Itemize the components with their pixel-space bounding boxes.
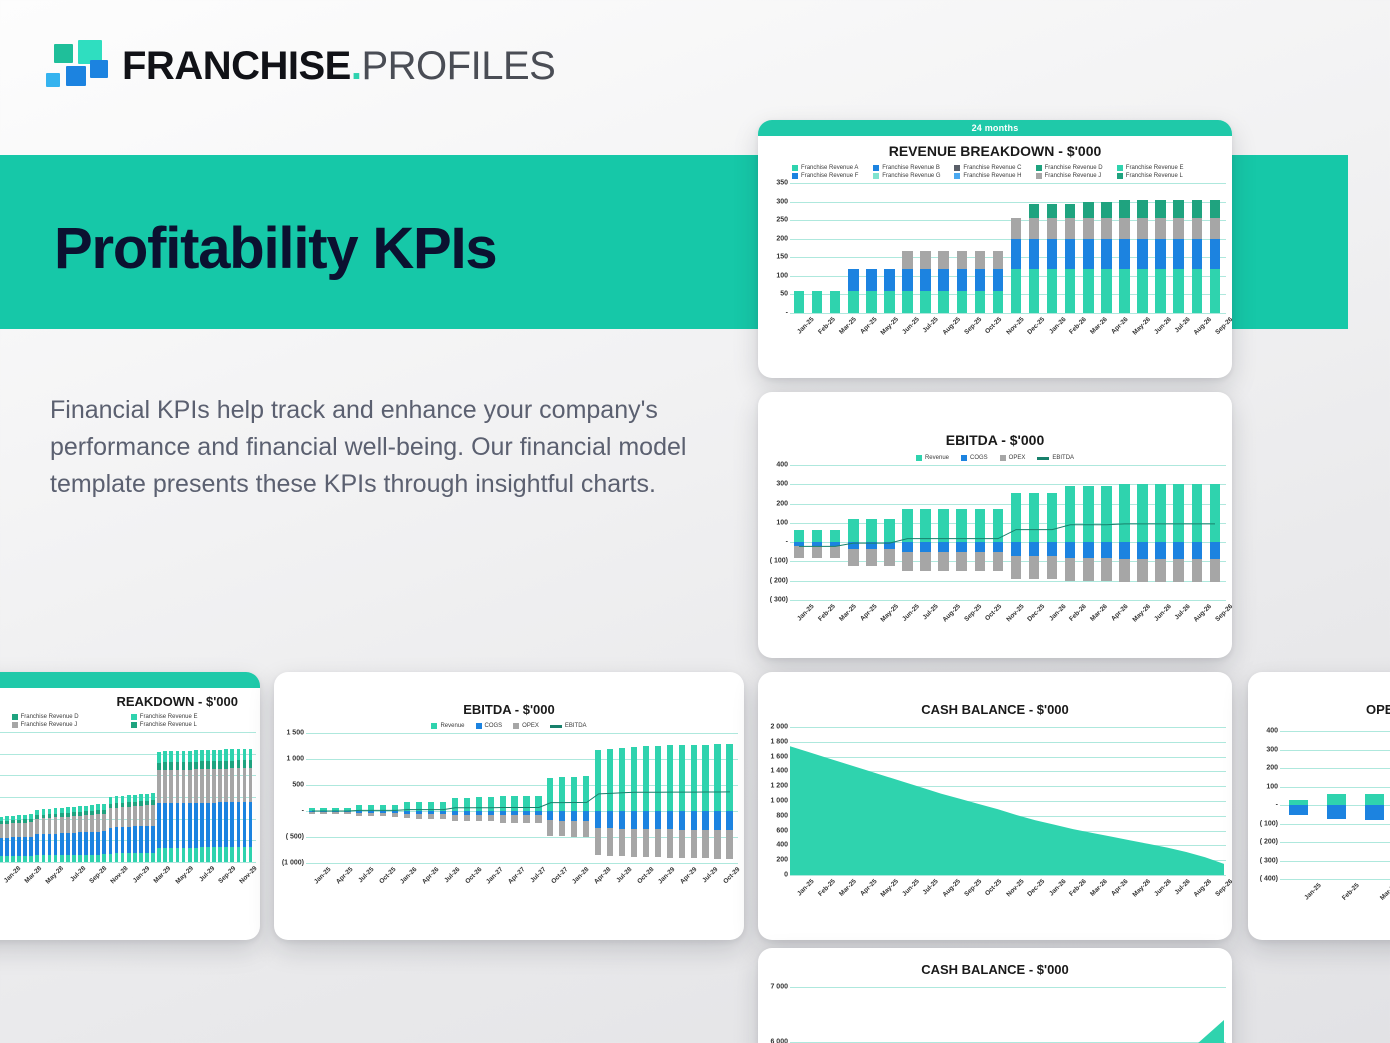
bar-segment <box>884 269 894 291</box>
bar-segment <box>920 269 930 291</box>
bar-segment <box>212 750 216 761</box>
bar-segment <box>188 762 192 770</box>
chart-plot-area: 35030025020015010050-Jan-25Feb-25Mar-25A… <box>764 183 1226 313</box>
bar <box>200 750 204 862</box>
bar <box>243 749 247 862</box>
legend-label: EBITDA <box>1052 455 1074 461</box>
bar-segment <box>1119 239 1129 269</box>
bar <box>212 750 216 862</box>
bar-column <box>1061 183 1079 313</box>
bar-column <box>248 732 254 862</box>
bar-segment <box>11 823 15 837</box>
bar-segment <box>157 848 161 862</box>
x-axis-tick: Feb-26 <box>1068 316 1088 336</box>
x-axis-tick: Jul-26 <box>1173 603 1191 621</box>
bar-segment <box>212 847 216 862</box>
x-axis-tick: Feb-25 <box>817 316 837 336</box>
y-axis: 1 5001 000500-( 500)(1 000) <box>280 733 306 863</box>
bar-segment <box>884 291 894 313</box>
bar-column <box>826 183 844 313</box>
bar-segment <box>230 761 234 769</box>
bar-segment <box>1173 200 1183 218</box>
bar <box>902 251 912 313</box>
bar-segment <box>0 824 3 838</box>
legend-label: COGS <box>485 723 503 729</box>
bar-segment <box>1101 218 1111 238</box>
y-axis-tick: 7 000 <box>770 984 788 991</box>
logo-square-3 <box>46 73 60 87</box>
brand-name-light: PROFILES <box>361 44 555 88</box>
x-axis-tick: May-29 <box>174 865 195 886</box>
bar-segment <box>17 823 21 837</box>
bar-segment <box>96 832 100 855</box>
card-revenue-breakdown-24m[interactable]: 24 months REVENUE BREAKDOWN - $'000 Fran… <box>758 120 1232 378</box>
bar-segment <box>243 749 247 760</box>
bar <box>1047 204 1057 313</box>
bar-segment <box>249 768 253 802</box>
bar-segment <box>133 826 137 853</box>
y-axis-tick: 1 400 <box>770 768 788 775</box>
bar-segment <box>1155 269 1165 313</box>
bar-segment <box>938 291 948 313</box>
legend-item: Revenue <box>431 723 464 729</box>
bar-segment <box>54 855 58 862</box>
chart-plot-area: 7 0006 0005 000 <box>764 987 1226 1043</box>
y-axis: 400300200100-( 100)( 200)( 300)( 400) <box>1254 731 1280 879</box>
card-revenue-breakdown-5y[interactable]: 5 years REAKDOWN - $'000 Franchise Reven… <box>0 672 260 940</box>
bar-segment <box>993 269 1003 291</box>
x-axis-tick: May-28 <box>45 865 66 886</box>
bar <box>230 749 234 862</box>
bar-column <box>1170 183 1188 313</box>
x-axis-tick: Jun-26 <box>1153 878 1173 898</box>
y-axis-tick: 300 <box>776 198 788 205</box>
bar-segment <box>224 761 228 769</box>
bar-segment <box>169 770 173 803</box>
y-axis-tick: 150 <box>776 254 788 261</box>
legend-label: Franchise Revenue L <box>1126 173 1183 179</box>
bar <box>188 751 192 862</box>
y-axis-tick: 400 <box>776 462 788 469</box>
bar-segment <box>115 853 119 862</box>
legend-item: Franchise Revenue B <box>873 165 954 171</box>
bar <box>1065 204 1075 313</box>
bar-segment <box>1047 239 1057 269</box>
bar-series <box>1280 731 1390 879</box>
legend-swatch-icon <box>476 723 482 729</box>
bar <box>17 815 21 862</box>
bar-column <box>880 183 898 313</box>
bar-segment <box>1065 269 1075 313</box>
bar-segment <box>182 803 186 847</box>
x-axis-tick: Jul-27 <box>527 866 547 886</box>
bar <box>163 751 167 862</box>
bar-segment <box>23 837 27 856</box>
x-axis-tick: Oct-25 <box>984 316 1003 335</box>
bar-segment <box>1083 202 1093 219</box>
x-axis: Jan-25Feb-25Mar-25Apr-25May-25Jun-25Jul-… <box>790 878 1224 885</box>
x-axis-tick: Mar-25 <box>838 316 858 336</box>
bar-segment <box>1065 204 1075 218</box>
bar <box>29 814 33 862</box>
bar <box>23 815 27 862</box>
bar-segment <box>1210 200 1220 218</box>
legend-item: Franchise Revenue C <box>954 165 1035 171</box>
bar-segment <box>1137 269 1147 313</box>
bar-segment <box>23 823 27 837</box>
bar-column <box>1152 183 1170 313</box>
x-axis-tick: Oct-29 <box>721 866 741 886</box>
bar-segment <box>72 855 76 862</box>
legend-item: EBITDA <box>550 723 587 729</box>
legend-label: Franchise Revenue C <box>963 165 1021 171</box>
card-cash-balance-5y[interactable]: CASH BALANCE - $'000 7 0006 0005 000 <box>758 948 1232 1043</box>
bar <box>1192 200 1202 313</box>
y-axis: 400300200100-( 100)( 200)( 300) <box>764 465 790 600</box>
chart-legend: RevenueCOGSOPEXEBITDA <box>758 455 1232 461</box>
bar-segment <box>182 751 186 762</box>
area-series <box>790 727 1224 875</box>
legend-item: Franchise Revenue A <box>792 165 873 171</box>
y-axis-tick: 200 <box>776 857 788 864</box>
bar-segment <box>139 794 143 801</box>
bar-segment <box>902 269 912 291</box>
x-axis-tick: Jul-28 <box>67 865 87 885</box>
legend-swatch-icon <box>1000 455 1006 461</box>
chart-title: REAKDOWN - $'000 <box>0 694 260 709</box>
y-axis-tick: 1 600 <box>770 753 788 760</box>
x-axis-tick: Jul-29 <box>699 866 719 886</box>
ebitda-line <box>306 733 736 863</box>
bar <box>794 291 804 313</box>
legend-swatch-icon <box>131 714 137 720</box>
legend-label: Franchise Revenue D <box>1045 165 1103 171</box>
bar-segment <box>218 761 222 769</box>
x-axis-tick: Apr-28 <box>592 866 612 886</box>
y-axis-tick: - <box>302 808 304 815</box>
bar-segment <box>176 762 180 770</box>
bar-segment <box>5 824 9 838</box>
y-axis-tick: 1 800 <box>770 738 788 745</box>
y-axis-tick: 300 <box>776 481 788 488</box>
x-axis-tick: Feb-26 <box>1068 878 1088 898</box>
y-axis-tick: 1 000 <box>770 798 788 805</box>
bar-column <box>1133 183 1151 313</box>
bar-segment <box>90 855 94 862</box>
legend-label: Revenue <box>925 455 949 461</box>
bar <box>182 751 186 862</box>
legend-label: OPEX <box>522 723 539 729</box>
bar-segment <box>72 833 76 855</box>
bar-segment <box>35 819 39 835</box>
y-axis-tick: 100 <box>776 272 788 279</box>
bar-segment <box>1137 218 1147 238</box>
bar <box>72 807 76 862</box>
bar-segment <box>35 834 39 855</box>
bar-segment <box>243 802 247 847</box>
chart-title: REVENUE BREAKDOWN - $'000 <box>758 143 1232 159</box>
bar-segment <box>1065 218 1075 238</box>
x-axis-tick: Jan-25 <box>312 866 332 886</box>
bar-segment <box>200 769 204 803</box>
bar <box>866 269 876 313</box>
bar-column <box>1318 731 1356 879</box>
bar-segment <box>163 803 167 847</box>
legend-item: Franchise Revenue D <box>1036 165 1117 171</box>
bar-segment <box>957 251 967 270</box>
bar-segment <box>78 832 82 854</box>
bar-segment <box>1137 239 1147 269</box>
ribbon-24-months: 24 months <box>758 120 1232 136</box>
bar <box>145 794 149 862</box>
x-axis-tick: May-25 <box>880 316 901 337</box>
bar-segment <box>182 762 186 770</box>
legend-swatch-icon <box>792 173 798 179</box>
bar-segment <box>5 856 9 862</box>
bar <box>48 809 52 862</box>
bar-column <box>1280 731 1318 879</box>
bar-segment <box>176 848 180 862</box>
y-axis-tick: 1 200 <box>770 783 788 790</box>
x-axis-tick: Jan-26 <box>1048 603 1068 623</box>
bar-segment <box>249 802 253 847</box>
bar <box>60 808 64 862</box>
bar-segment <box>48 818 52 834</box>
bar-column <box>1206 183 1224 313</box>
card-ebitda-24m[interactable]: EBITDA - $'000 RevenueCOGSOPEXEBITDA 400… <box>758 392 1232 658</box>
bar-segment <box>182 848 186 862</box>
bar-segment <box>206 750 210 761</box>
bar-segment <box>993 291 1003 313</box>
bar <box>102 804 106 862</box>
card-opex-partial[interactable]: OPE 400300200100-( 100)( 200)( 300)( 400… <box>1248 672 1390 940</box>
bar-segment <box>1119 269 1129 313</box>
bar-segment <box>1029 204 1039 218</box>
bar-series <box>0 732 254 862</box>
bar-segment <box>29 856 33 862</box>
legend-label: Franchise Revenue A <box>801 165 858 171</box>
bar-segment <box>102 831 106 854</box>
bar-segment <box>1011 269 1021 313</box>
bar-segment <box>96 814 100 831</box>
y-axis-tick: 500 <box>292 782 304 789</box>
bar-segment <box>975 291 985 313</box>
legend-item: Franchise Revenue H <box>954 173 1035 179</box>
bar-segment <box>163 848 167 862</box>
x-axis-tick: Apr-27 <box>506 866 526 886</box>
bar-segment <box>1011 218 1021 238</box>
legend-swatch-icon <box>131 722 137 728</box>
x-axis-tick: Feb-25 <box>817 603 837 623</box>
legend-item: Franchise Revenue J <box>1036 173 1117 179</box>
x-axis-tick: Apr-25 <box>334 866 354 886</box>
y-axis-tick: ( 100) <box>1260 820 1278 827</box>
x-axis-tick: Sep-26 <box>1215 316 1232 336</box>
legend-swatch-icon <box>961 455 967 461</box>
y-axis-tick: 300 <box>1266 746 1278 753</box>
bar-segment <box>157 803 161 847</box>
x-axis-tick: Oct-26 <box>463 866 483 886</box>
bar-segment <box>151 805 155 826</box>
bar-segment <box>920 291 930 313</box>
bar-segment <box>1065 239 1075 269</box>
bar-segment <box>169 848 173 862</box>
x-axis-tick: Jul-25 <box>922 878 940 896</box>
bar-segment <box>243 768 247 802</box>
y-axis-tick: ( 500) <box>286 834 304 841</box>
bar <box>848 269 858 313</box>
bar-segment <box>200 803 204 848</box>
bar-column <box>971 183 989 313</box>
bar-segment <box>84 855 88 862</box>
bar-segment <box>1083 269 1093 313</box>
bar-segment <box>169 762 173 770</box>
bar-column <box>898 183 916 313</box>
legend-item: Franchise Revenue D <box>12 714 131 720</box>
bar-segment <box>42 855 46 862</box>
bar-segment <box>237 768 241 802</box>
x-axis-tick: Dec-25 <box>1026 603 1046 623</box>
bar-column <box>917 183 935 313</box>
x-axis-tick: Apr-26 <box>1110 878 1130 898</box>
x-axis-tick: Oct-25 <box>984 878 1003 897</box>
x-axis-tick: Sep-25 <box>963 878 983 898</box>
bar-segment <box>1029 269 1039 313</box>
bar-segment <box>1173 269 1183 313</box>
legend-item: OPEX <box>1000 455 1026 461</box>
bar-segment <box>224 847 228 862</box>
x-axis-tick: Jan-28 <box>570 866 590 886</box>
chart-plot-area: 1 5001 000500-( 500)(1 000)Jan-25Apr-25J… <box>280 733 738 863</box>
x-axis-tick: Apr-29 <box>678 866 698 886</box>
bar-segment <box>145 805 149 826</box>
bar-column <box>1079 183 1097 313</box>
x-axis-tick: Jul-28 <box>613 866 633 886</box>
legend-label: Franchise Revenue H <box>963 173 1021 179</box>
bar-segment <box>121 827 125 853</box>
card-cash-balance-24m[interactable]: CASH BALANCE - $'000 2 0001 8001 6001 40… <box>758 672 1232 940</box>
bar-segment <box>66 833 70 855</box>
bar <box>975 251 985 313</box>
bar-segment <box>109 854 113 862</box>
y-axis: 7 0006 0005 000 <box>764 987 790 1043</box>
x-axis-tick: Jul-25 <box>922 603 940 621</box>
bar-segment <box>17 856 21 862</box>
legend-swatch-icon <box>1036 173 1042 179</box>
bar-segment <box>1119 218 1129 238</box>
bar <box>84 806 88 862</box>
logo-square-1 <box>54 44 73 63</box>
x-axis-tick: Aug-26 <box>1193 316 1214 337</box>
bar-segment <box>78 855 82 862</box>
bar-segment <box>1137 200 1147 218</box>
bar-segment <box>194 750 198 761</box>
page-title: Profitability KPIs <box>54 215 497 282</box>
y-axis-tick: 200 <box>776 235 788 242</box>
legend-label: Franchise Revenue B <box>882 165 940 171</box>
bar-column <box>1097 183 1115 313</box>
x-axis-tick: Oct-28 <box>635 866 655 886</box>
bar-segment <box>200 847 204 862</box>
bar <box>957 251 967 313</box>
bar-segment <box>48 855 52 862</box>
x-axis-tick: Jul-26 <box>441 866 461 886</box>
bar-segment <box>42 834 46 855</box>
bar-segment <box>42 818 46 834</box>
bar-segment <box>17 837 21 856</box>
bar-segment <box>1210 239 1220 269</box>
bar-segment <box>60 833 64 855</box>
bar <box>249 749 253 862</box>
legend-label: Franchise Revenue E <box>1126 165 1184 171</box>
bar-segment <box>109 808 113 828</box>
bar-segment <box>206 803 210 848</box>
bar-segment <box>938 269 948 291</box>
bar-segment <box>11 837 15 856</box>
bar <box>42 809 46 862</box>
y-axis: 2 0001 8001 6001 4001 2001 0008006004002… <box>764 727 790 875</box>
y-axis-tick: ( 200) <box>770 577 788 584</box>
legend-swatch-icon <box>1037 457 1049 460</box>
bar-segment <box>109 828 113 854</box>
bar-segment <box>866 269 876 291</box>
bar-segment <box>230 768 234 802</box>
bar-segment <box>145 853 149 862</box>
bar-segment <box>66 817 70 833</box>
bar <box>139 794 143 862</box>
bar-segment-positive <box>1327 794 1346 805</box>
legend-label: COGS <box>970 455 988 461</box>
brand-name-bold: FRANCHISE <box>122 44 351 88</box>
legend-item: Franchise Revenue H <box>0 722 12 728</box>
x-axis-tick: Mar-25 <box>838 603 858 623</box>
bar-segment <box>176 770 180 803</box>
bar-segment <box>1083 239 1093 269</box>
bar-column <box>1007 183 1025 313</box>
x-axis-tick: Apr-26 <box>420 866 440 886</box>
bar <box>121 796 125 862</box>
bar-segment <box>249 760 253 768</box>
bar-segment <box>54 834 58 855</box>
legend-swatch-icon <box>513 723 519 729</box>
legend-swatch-icon <box>954 173 960 179</box>
x-axis-tick: Mar-28 <box>23 865 43 885</box>
bar <box>11 816 15 862</box>
bar <box>224 749 228 862</box>
bar-segment <box>993 251 1003 270</box>
area-series <box>790 987 1224 1043</box>
bar <box>1083 202 1093 313</box>
legend-item: COGS <box>476 723 503 729</box>
bar-segment <box>163 762 167 770</box>
y-axis-tick: 100 <box>1266 783 1278 790</box>
y-axis: 35030025020015010050- <box>764 183 790 313</box>
bar-series <box>790 183 1224 313</box>
bar-segment <box>127 827 131 854</box>
bar-column <box>1043 183 1061 313</box>
bar <box>194 750 198 862</box>
legend-swatch-icon <box>1117 165 1123 171</box>
legend-label: Revenue <box>440 723 464 729</box>
bar-segment <box>902 291 912 313</box>
bar-segment <box>218 769 222 803</box>
x-axis-tick: Apr-25 <box>859 316 879 336</box>
card-ebitda-5y[interactable]: EBITDA - $'000 RevenueCOGSOPEXEBITDA 1 5… <box>274 672 744 940</box>
bar-column <box>844 183 862 313</box>
bar-segment <box>902 251 912 270</box>
gridline <box>306 863 738 864</box>
y-axis-tick: ( 300) <box>1260 857 1278 864</box>
